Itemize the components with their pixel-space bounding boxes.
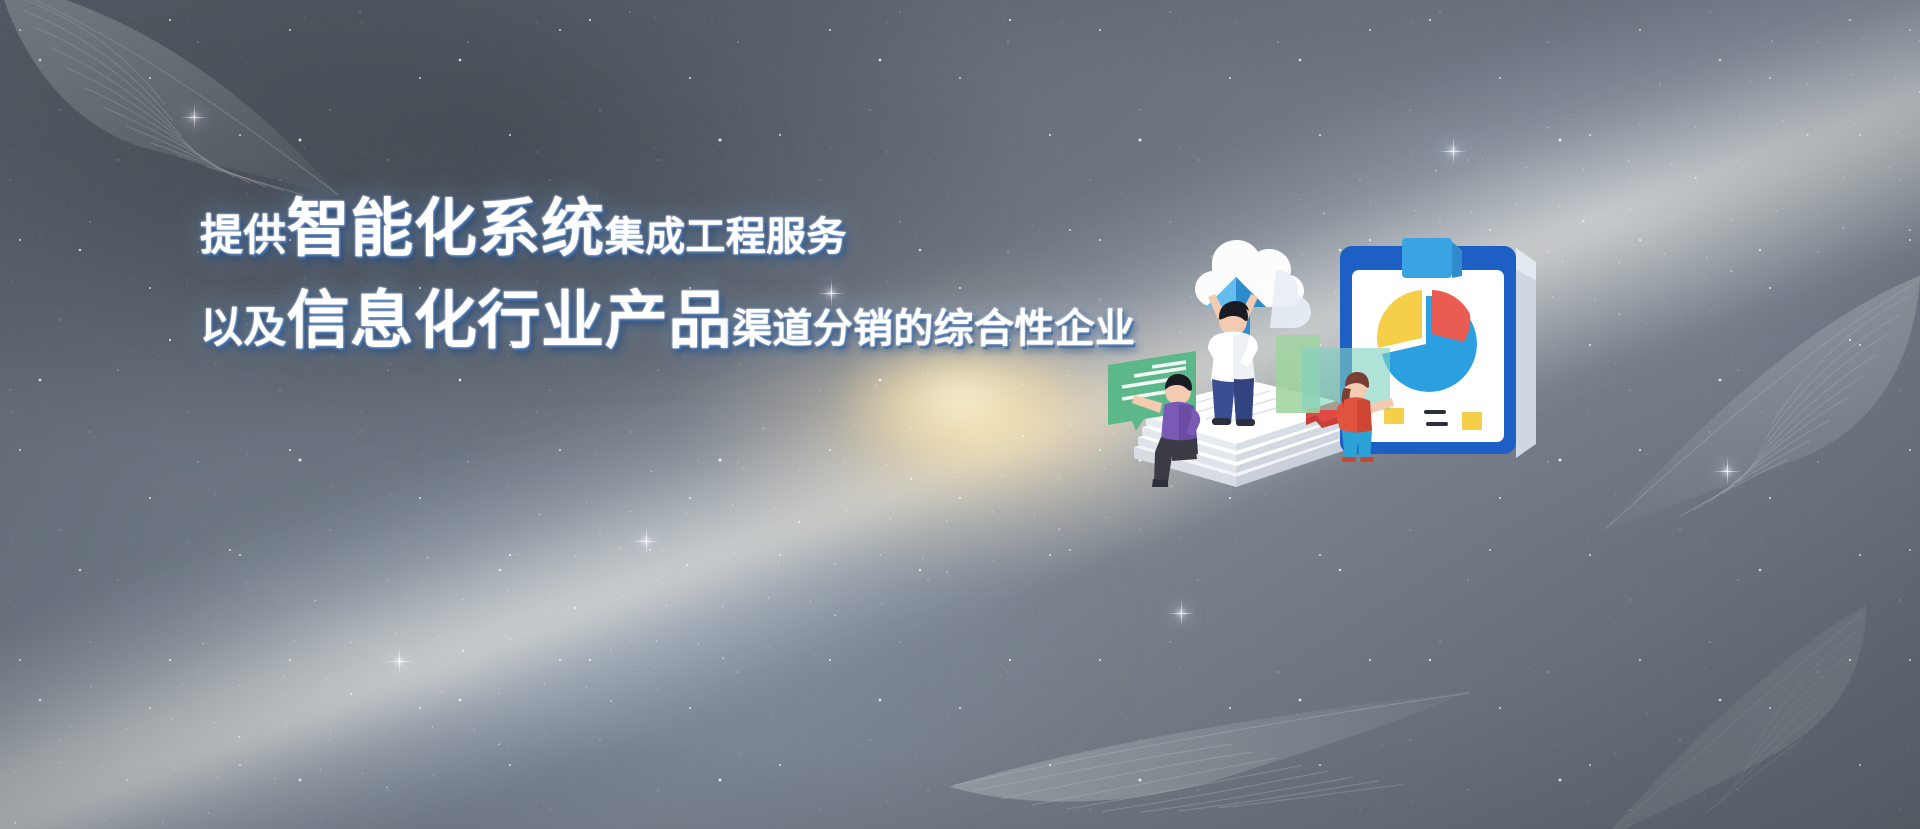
legend-line-2 (1426, 422, 1448, 426)
headline-line2-emphasis: 信息化行业产品 (287, 284, 732, 357)
cloud-icon (1195, 240, 1311, 328)
headline-line1-part3: 集成工程服务 (605, 214, 847, 260)
headline-line2-part3: 渠道分销的综合性企业 (732, 306, 1135, 352)
banner-stage: 提供智能化系统集成工程服务 以及信息化行业产品渠道分销的综合性企业 (0, 0, 1920, 829)
headline-block: 提供智能化系统集成工程服务 以及信息化行业产品渠道分销的综合性企业 (200, 186, 1040, 364)
legend-line-1 (1424, 410, 1446, 414)
legend-swatch-yellow (1384, 408, 1404, 424)
background-vignette (0, 0, 1920, 829)
headline-line-2: 以及信息化行业产品渠道分销的综合性企业 (200, 278, 1040, 364)
headline-line1-emphasis: 智能化系统 (287, 192, 605, 265)
headline-line2-part1: 以及 (200, 303, 287, 353)
headline-line-1: 提供智能化系统集成工程服务 (200, 186, 1040, 272)
headline-line1-part1: 提供 (200, 211, 287, 261)
clipboard-chart (1330, 236, 1550, 462)
legend-swatch-yellow-2 (1462, 412, 1482, 430)
clipboard-clip (1402, 238, 1452, 278)
